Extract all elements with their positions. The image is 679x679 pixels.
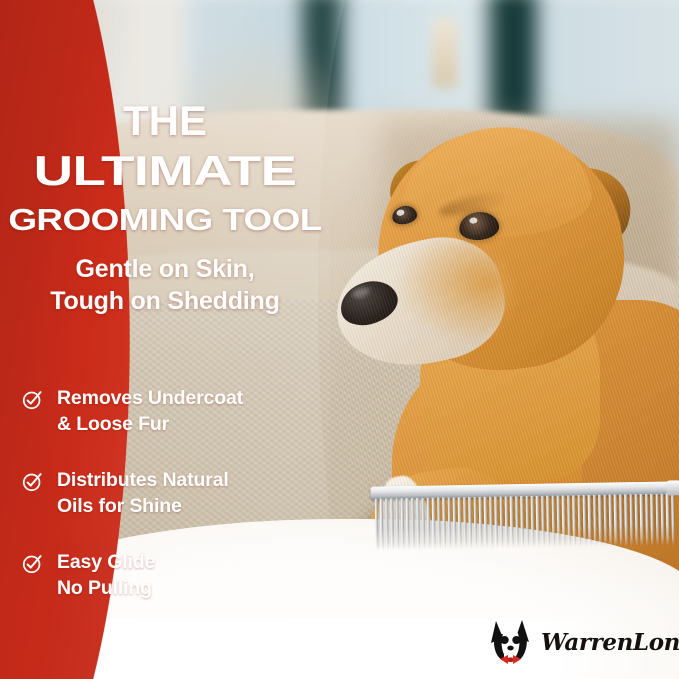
benefit-line-1: Removes Undercoat [57,387,243,409]
comb-end-cap [666,480,679,495]
brand-logo: WarrenLondon ™ [487,615,667,671]
boston-terrier-logo-icon [487,618,533,668]
subtitle-line-2: Tough on Shedding [0,285,330,317]
benefit-line-2: Oils for Shine [57,495,182,517]
marketing-copy: THE ULTIMATE GROOMING TOOL Gentle on Ski… [0,0,400,679]
benefit-line-1: Distributes Natural [57,469,229,491]
brand-name: WarrenLondon [541,629,679,656]
check-circle-icon [22,471,43,492]
eye-highlight [469,217,478,224]
list-item: Removes Undercoat & Loose Fur [22,386,332,438]
list-item: Distributes Natural Oils for Shine [22,468,332,520]
headline-line-2: ULTIMATE [0,150,380,192]
benefit-text: Removes Undercoat & Loose Fur [57,386,243,438]
benefit-line-2: & Loose Fur [57,413,169,435]
check-circle-icon [22,553,43,574]
comb-teeth [375,493,676,550]
benefit-text: Easy Glide No Pulling [57,550,155,602]
check-circle-icon [22,389,43,410]
steel-grooming-comb [370,481,679,552]
headline-line-1: THE [0,100,330,142]
brand-wordmark: WarrenLondon ™ [541,623,679,663]
benefit-line-2: No Pulling [57,577,152,599]
dog-muzzle-blend [392,238,512,348]
page-title: THE ULTIMATE GROOMING TOOL [0,100,330,235]
subtitle: Gentle on Skin, Tough on Shedding [0,253,330,317]
benefit-line-1: Easy Glide [57,551,155,573]
list-item: Easy Glide No Pulling [22,550,332,602]
headline-line-3: GROOMING TOOL [0,204,361,235]
benefits-list: Removes Undercoat & Loose Fur Distribute… [22,386,332,632]
benefit-text: Distributes Natural Oils for Shine [57,468,229,520]
product-infographic: THE ULTIMATE GROOMING TOOL Gentle on Ski… [0,0,679,679]
subtitle-line-1: Gentle on Skin, [0,253,330,285]
